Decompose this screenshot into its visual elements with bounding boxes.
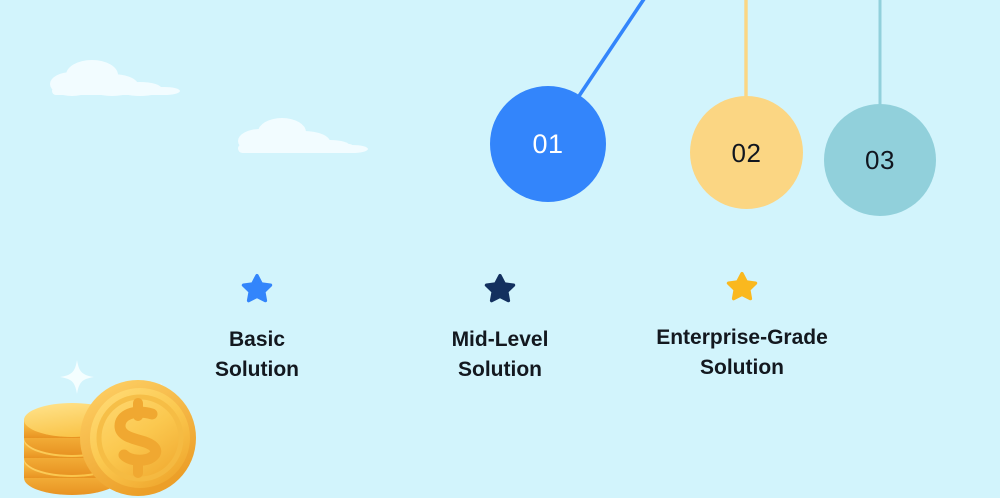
string-01 [577,0,646,99]
pendulum-node-02-number: 02 [732,140,762,166]
coin-stack [24,403,120,495]
pendulum-node-02[interactable]: 02 [690,96,803,209]
pendulum-node-01[interactable]: 01 [490,86,606,202]
tier-basic-title: Basic Solution [167,325,347,386]
star-icon [726,270,758,301]
cloud-top-left-icon [40,55,190,105]
pendulum-strings [0,0,1000,498]
infographic-canvas: 01 02 03 Basic Solution Mid-Level Soluti… [0,0,1000,498]
cloud-mid-left-icon [222,112,372,164]
pendulum-node-03-number: 03 [865,147,895,173]
tier-mid-level-title: Mid-Level Solution [410,325,590,386]
star-icon [484,272,516,303]
coin-front [80,380,196,496]
pendulum-node-01-number: 01 [532,131,563,158]
sparkle-icon [60,360,171,402]
pendulum-node-03[interactable]: 03 [824,104,936,216]
dollar-sign-icon [120,403,156,473]
tier-basic[interactable]: Basic Solution [167,272,347,386]
tier-mid-level[interactable]: Mid-Level Solution [410,272,590,386]
tier-enterprise-grade-title: Enterprise-Grade Solution [622,323,862,384]
star-icon [241,272,273,303]
tier-enterprise-grade[interactable]: Enterprise-Grade Solution [622,270,862,384]
